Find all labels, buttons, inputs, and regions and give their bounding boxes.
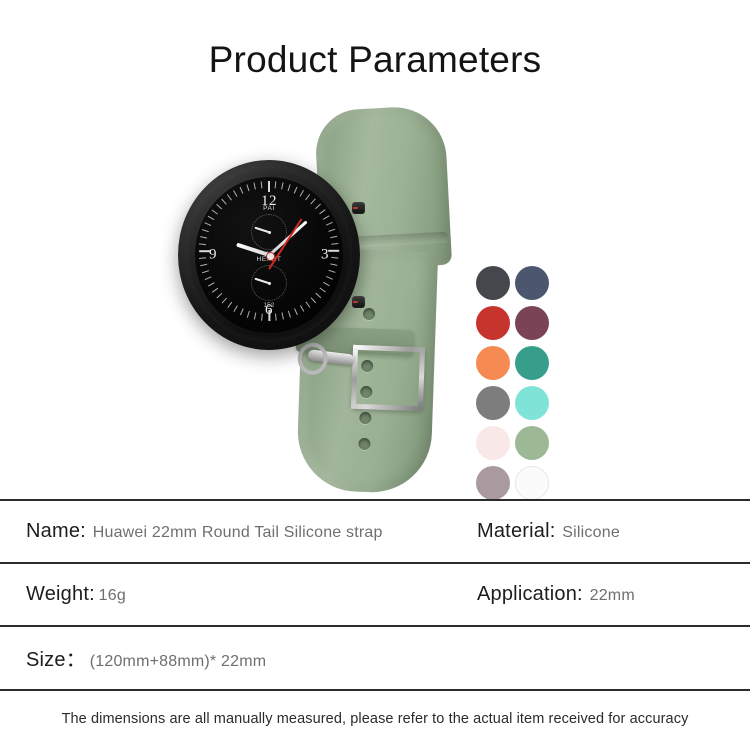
spec-label-weight: Weight <box>26 583 89 606</box>
watch-crown-bottom-button <box>352 296 365 308</box>
spec-value-name: Huawei 22mm Round Tail Silicone strap <box>93 524 383 542</box>
color-swatch-mint[interactable] <box>515 386 549 420</box>
watch-crown-top-button <box>352 202 365 214</box>
color-swatch-red[interactable] <box>476 306 510 340</box>
color-swatch-navy-slate[interactable] <box>515 266 549 300</box>
spec-separator: : <box>550 520 563 543</box>
spec-field-material: Material : Silicone <box>477 520 620 543</box>
color-swatch-charcoal[interactable] <box>476 266 510 300</box>
spec-field-application: Application : 22mm <box>477 583 635 606</box>
color-swatch-pale-pink[interactable] <box>476 426 510 460</box>
watch-center-pin <box>266 252 275 261</box>
spec-row-size: Size ： (120mm+88mm)* 22mm <box>0 626 750 688</box>
strap-hole <box>359 412 371 424</box>
footer-note: The dimensions are all manually measured… <box>0 711 750 727</box>
spec-value-size: (120mm+88mm)* 22mm <box>90 653 267 671</box>
strap-hole <box>363 308 375 320</box>
subdial-pai-label: PAI <box>241 205 297 212</box>
spec-separator: : <box>80 520 93 543</box>
watch-face: 12 3 6 9 PAI 80 HEART 152 <box>195 177 343 333</box>
spec-separator: ： <box>66 643 90 672</box>
spec-separator: : <box>577 583 590 606</box>
strap-hole <box>358 438 370 450</box>
spec-field-size: Size ： (120mm+88mm)* 22mm <box>26 643 266 672</box>
spec-row-name: Name : Huawei 22mm Round Tail Silicone s… <box>0 500 750 562</box>
color-swatch-teal[interactable] <box>515 346 549 380</box>
spec-field-weight: Weight : 16g <box>26 583 126 606</box>
strap-buckle <box>351 345 425 411</box>
spec-value-application: 22mm <box>590 587 635 605</box>
spec-label-size: Size <box>26 649 66 672</box>
spec-label-name: Name <box>26 520 80 543</box>
watch-subdial-heart: HEART 152 <box>241 256 297 309</box>
spec-row-weight: Weight : 16g Application : 22mm <box>0 563 750 625</box>
spec-label-application: Application <box>477 583 577 606</box>
spec-value-weight: 16g <box>99 587 126 605</box>
color-swatch-off-white[interactable] <box>515 466 549 500</box>
page-title: Product Parameters <box>0 38 750 82</box>
color-swatch-gray[interactable] <box>476 386 510 420</box>
color-swatch-sage-green[interactable] <box>515 426 549 460</box>
watch-numeral-3: 3 <box>321 247 329 264</box>
color-swatch-orange[interactable] <box>476 346 510 380</box>
spec-field-name: Name : Huawei 22mm Round Tail Silicone s… <box>26 520 383 543</box>
color-swatch-mauve-taupe[interactable] <box>476 466 510 500</box>
color-swatch-plum[interactable] <box>515 306 549 340</box>
spec-divider-bottom <box>0 689 750 691</box>
smartwatch: 12 3 6 9 PAI 80 HEART 152 <box>178 160 360 350</box>
spec-separator: : <box>89 583 99 606</box>
subdial-heart-value: 152 <box>241 302 297 309</box>
spec-value-material: Silicone <box>562 524 620 542</box>
spec-label-material: Material <box>477 520 550 543</box>
color-option-grid <box>476 266 554 506</box>
subdial-heart-ring <box>251 265 287 301</box>
product-image: 12 3 6 9 PAI 80 HEART 152 <box>0 100 750 490</box>
watch-numeral-9: 9 <box>209 247 217 264</box>
